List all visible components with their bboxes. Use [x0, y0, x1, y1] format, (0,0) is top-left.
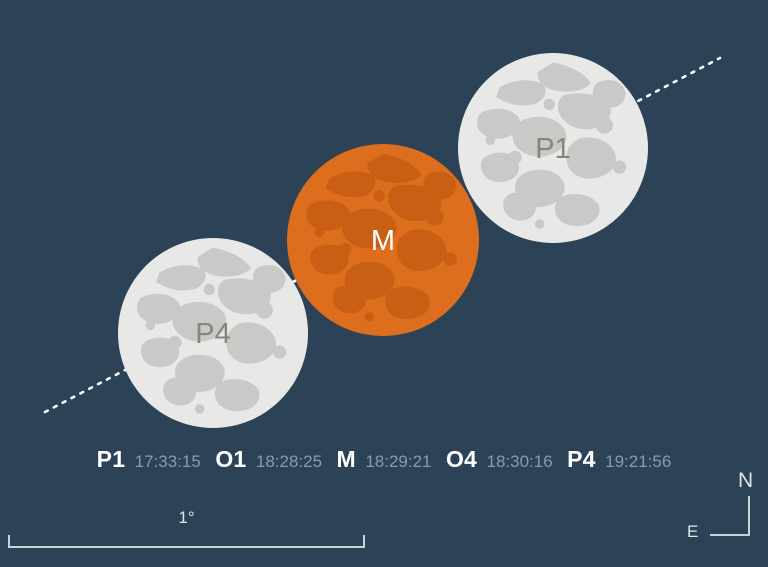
legend-item-o4: O4 18:30:16: [446, 446, 553, 473]
moon-p4: P4: [118, 238, 308, 428]
legend-code-m: M: [337, 446, 356, 472]
moon-p1: P1: [458, 53, 648, 243]
moon-p1-label: P1: [535, 133, 570, 165]
legend-time-p1: 17:33:15: [135, 452, 201, 471]
compass-north-arm: [748, 496, 750, 536]
legend-time-o4: 18:30:16: [487, 452, 553, 471]
legend-code-o4: O4: [446, 446, 477, 472]
legend-time-m: 18:29:21: [365, 452, 431, 471]
legend-time-o1: 18:28:25: [256, 452, 322, 471]
moon-p4-label: P4: [195, 318, 230, 350]
compass-north-label: N: [738, 469, 753, 493]
moon-m: M: [287, 144, 479, 336]
sky-canvas: P4 M P1: [0, 0, 768, 567]
legend-code-o1: O1: [215, 446, 246, 472]
legend-item-p1: P1 17:33:15: [97, 446, 201, 473]
compass-east-label: E: [687, 522, 698, 542]
scale-bar-line: [8, 535, 365, 548]
angular-scale-bar: 1°: [8, 508, 365, 548]
legend-item-p4: P4 19:21:56: [567, 446, 671, 473]
legend-item-o1: O1 18:28:25: [215, 446, 322, 473]
compass-rose: N E: [690, 472, 760, 548]
legend-code-p1: P1: [97, 446, 126, 472]
legend-item-m: M 18:29:21: [337, 446, 432, 473]
legend-code-p4: P4: [567, 446, 596, 472]
contact-times-legend: P1 17:33:15 O1 18:28:25 M 18:29:21 O4 18…: [0, 446, 768, 473]
legend-time-p4: 19:21:56: [605, 452, 671, 471]
scale-bar-label: 1°: [8, 508, 365, 528]
moon-m-label: M: [371, 225, 395, 257]
compass-east-arm: [710, 534, 750, 536]
eclipse-diagram: P4 M P1 P1 17:33:15 O1 18:28:25: [0, 0, 768, 567]
